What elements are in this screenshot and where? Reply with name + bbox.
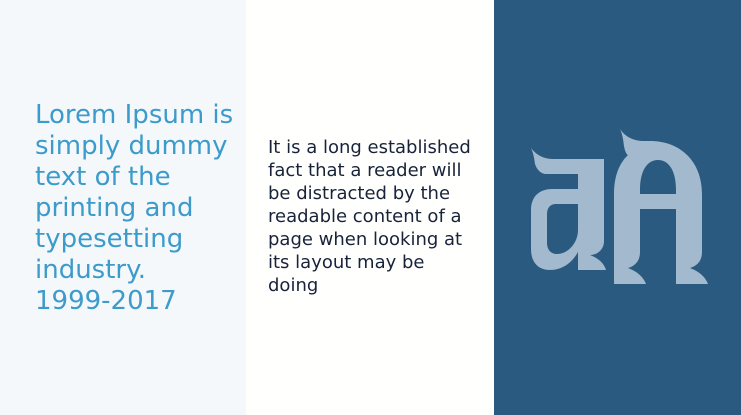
- glyph-showcase-panel: [494, 0, 741, 415]
- lowercase-a-glyph: [531, 148, 606, 270]
- aa-glyph-pair: [518, 115, 728, 305]
- paragraph-text: It is a long established fact that a rea…: [268, 136, 480, 297]
- font-specimen-preview: Lorem Ipsum is simply dummy text of the …: [0, 0, 741, 415]
- sample-text: Lorem Ipsum is simply dummy text of the …: [35, 100, 235, 317]
- paragraph-panel: It is a long established fact that a rea…: [246, 0, 494, 415]
- sample-text-panel: Lorem Ipsum is simply dummy text of the …: [0, 0, 246, 415]
- glyph-stage: [494, 0, 741, 415]
- uppercase-A-glyph: [614, 129, 708, 284]
